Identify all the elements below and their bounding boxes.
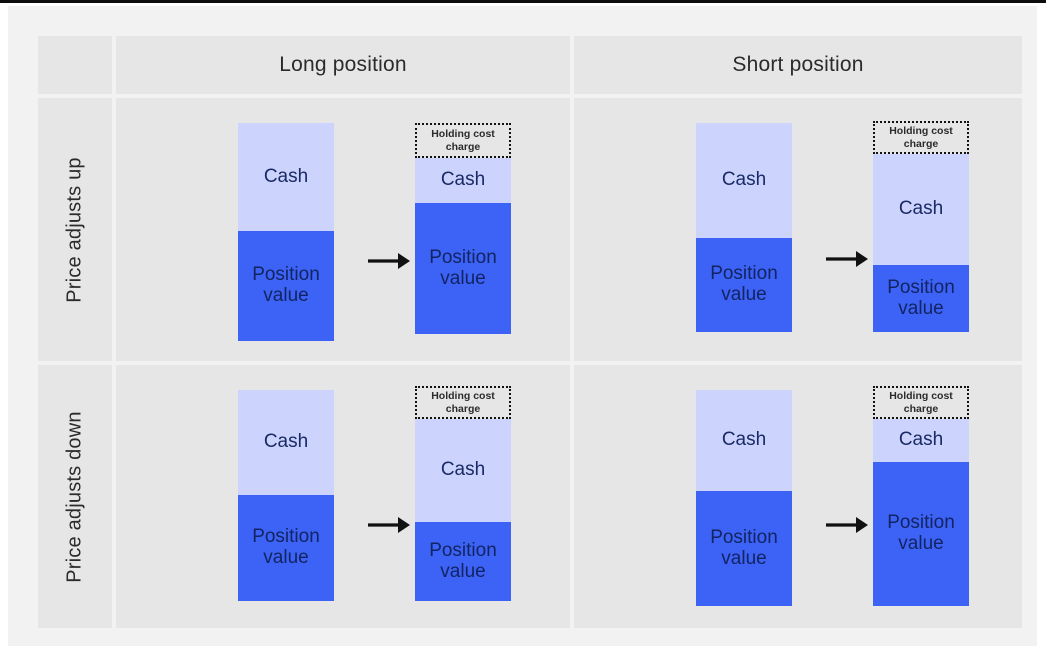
segment-position-value-label: Position value [238,265,334,307]
panel-short-price-up: Cash Position value Holding cost charge [574,98,1022,361]
panel-long-price-up: Cash Position value Holding cost charge [116,98,570,361]
grid-corner-cell [38,36,112,94]
segment-position-value: Position value [696,491,792,606]
segment-cash: Cash [415,158,511,203]
segment-cash: Cash [415,419,511,522]
segment-cash: Cash [696,390,792,491]
segment-holding-cost-charge-label: Holding cost charge [875,390,967,415]
segment-position-value: Position value [238,495,334,601]
column-header-short: Short position [574,36,1022,94]
segment-cash-label: Cash [722,430,766,451]
segment-cash: Cash [873,419,969,462]
segment-position-value-label: Position value [415,541,511,583]
segment-cash: Cash [696,123,792,238]
top-rule-divider [0,0,1046,3]
segment-cash-label: Cash [899,430,943,451]
bar-short-down-before: Cash Position value [696,390,792,606]
row-header-price-down: Price adjusts down [38,365,112,628]
segment-position-value: Position value [696,238,792,332]
panel-long-price-down: Cash Position value Holding cost charge [116,365,570,628]
bar-long-down-after: Holding cost charge Cash Position value [415,386,511,601]
segment-position-value: Position value [873,265,969,332]
segment-cash-label: Cash [264,167,308,188]
segment-holding-cost-charge-label: Holding cost charge [875,125,967,150]
segment-position-value-label: Position value [415,248,511,290]
transition-arrow-icon [366,248,412,274]
segment-cash: Cash [238,123,334,231]
segment-cash-label: Cash [264,432,308,453]
segment-cash-label: Cash [441,460,485,481]
segment-position-value: Position value [415,522,511,601]
segment-position-value: Position value [873,462,969,606]
page-surface: Long position Short position Price adjus… [8,6,1037,646]
segment-position-value-label: Position value [238,527,334,569]
segment-holding-cost-charge: Holding cost charge [415,123,511,158]
row-header-price-down-label: Price adjusts down [64,411,87,582]
transition-arrow-icon [824,246,870,272]
bar-short-down-after: Holding cost charge Cash Position value [873,386,969,606]
column-header-long: Long position [116,36,570,94]
bar-short-up-before: Cash Position value [696,123,792,332]
segment-cash: Cash [238,390,334,495]
segment-position-value: Position value [238,231,334,341]
bar-short-up-after: Holding cost charge Cash Position value [873,121,969,332]
segment-holding-cost-charge: Holding cost charge [415,386,511,419]
panel-short-price-down: Cash Position value Holding cost charge [574,365,1022,628]
row-header-price-up-label: Price adjusts up [64,157,87,303]
row-header-price-up: Price adjusts up [38,98,112,361]
bar-long-down-before: Cash Position value [238,390,334,601]
column-header-short-label: Short position [574,36,1022,94]
comparison-grid: Long position Short position Price adjus… [38,36,1022,628]
column-header-long-label: Long position [116,36,570,94]
transition-arrow-icon [824,512,870,538]
bar-long-up-before: Cash Position value [238,123,334,341]
segment-position-value-label: Position value [873,513,969,555]
segment-cash-label: Cash [899,199,943,220]
transition-arrow-icon [366,512,412,538]
segment-position-value: Position value [415,203,511,334]
segment-holding-cost-charge-label: Holding cost charge [417,128,509,153]
bar-long-up-after: Holding cost charge Cash Position value [415,123,511,334]
segment-cash: Cash [873,154,969,265]
segment-cash-label: Cash [441,170,485,191]
segment-position-value-label: Position value [696,264,792,306]
segment-holding-cost-charge: Holding cost charge [873,386,969,419]
diagram-root: Long position Short position Price adjus… [0,0,1046,652]
segment-holding-cost-charge: Holding cost charge [873,121,969,154]
segment-holding-cost-charge-label: Holding cost charge [417,390,509,415]
segment-position-value-label: Position value [873,278,969,320]
segment-position-value-label: Position value [696,528,792,570]
segment-cash-label: Cash [722,170,766,191]
